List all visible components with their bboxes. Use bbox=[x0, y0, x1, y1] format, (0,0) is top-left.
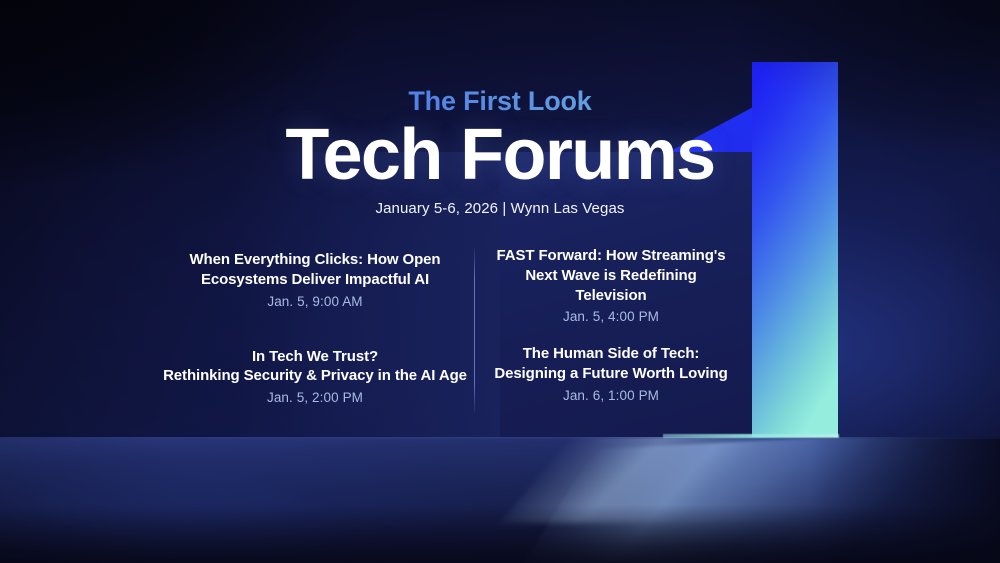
session-title: In Tech We Trust? Rethinking Security & … bbox=[150, 347, 480, 387]
session-title: FAST Forward: How Streaming's Next Wave … bbox=[480, 246, 742, 305]
session-time: Jan. 5, 9:00 AM bbox=[150, 294, 480, 309]
event-date-venue: January 5-6, 2026 | Wynn Las Vegas bbox=[0, 200, 1000, 217]
session-column-left: When Everything Clicks: How Open Ecosyst… bbox=[150, 250, 480, 427]
session-time: Jan. 5, 2:00 PM bbox=[150, 390, 480, 405]
session-column-right: FAST Forward: How Streaming's Next Wave … bbox=[480, 246, 742, 425]
session-title: The Human Side of Tech: Designing a Futu… bbox=[480, 344, 742, 384]
session-item[interactable]: In Tech We Trust? Rethinking Security & … bbox=[150, 347, 480, 406]
page-title: Tech Forums bbox=[0, 119, 1000, 191]
session-time: Jan. 6, 1:00 PM bbox=[480, 388, 742, 403]
session-item[interactable]: The Human Side of Tech: Designing a Futu… bbox=[480, 344, 742, 403]
session-item[interactable]: FAST Forward: How Streaming's Next Wave … bbox=[480, 246, 742, 324]
presentation-slide: The First Look Tech Forums January 5-6, … bbox=[0, 0, 1000, 563]
slide-content: The First Look Tech Forums January 5-6, … bbox=[0, 0, 1000, 563]
event-kicker: The First Look bbox=[0, 86, 1000, 117]
session-time: Jan. 5, 4:00 PM bbox=[480, 309, 742, 324]
session-item[interactable]: When Everything Clicks: How Open Ecosyst… bbox=[150, 250, 480, 309]
session-title: When Everything Clicks: How Open Ecosyst… bbox=[150, 250, 480, 290]
